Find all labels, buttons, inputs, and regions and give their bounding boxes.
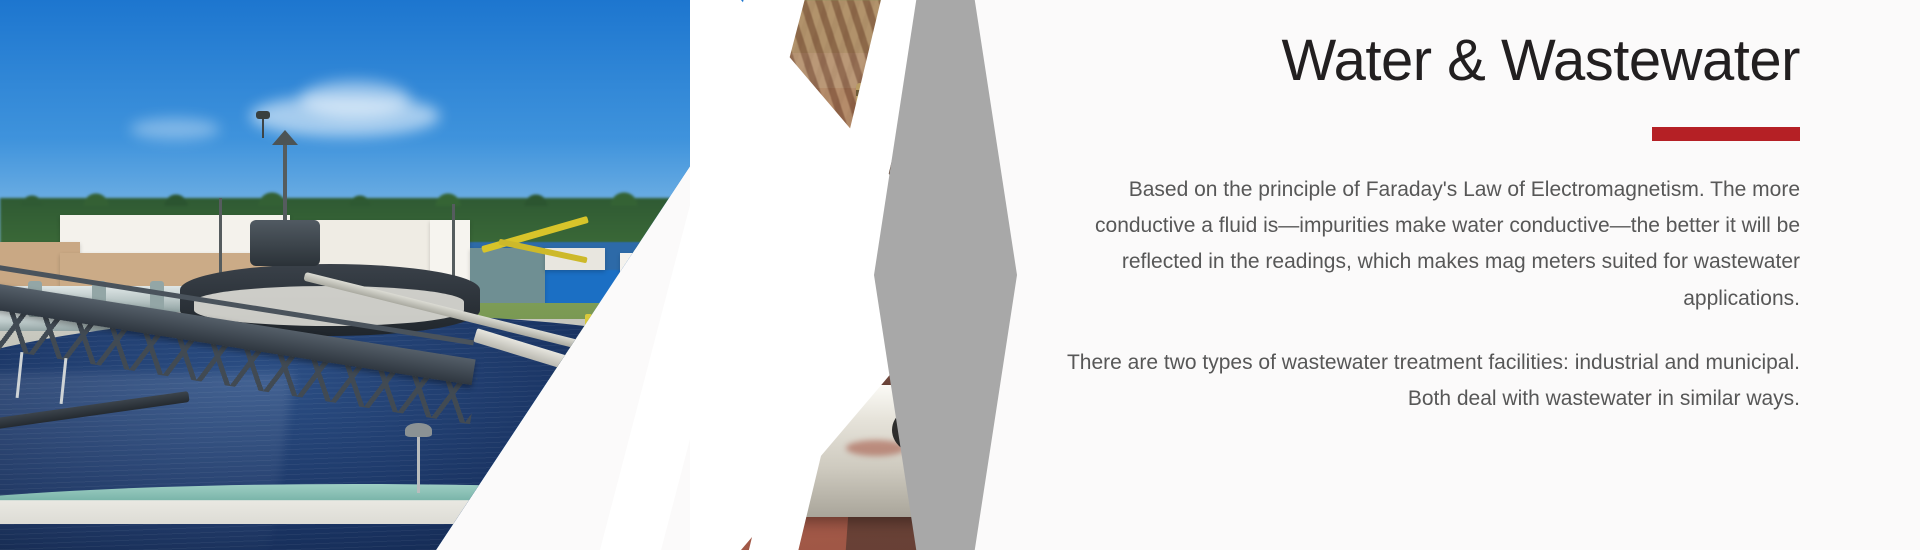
lamp-post bbox=[417, 435, 420, 493]
bollard bbox=[585, 314, 592, 336]
antenna bbox=[262, 116, 264, 138]
page-title: Water & Wastewater bbox=[1040, 28, 1800, 95]
bollard bbox=[618, 314, 625, 336]
hero-paragraph-2: There are two types of wastewater treatm… bbox=[1040, 345, 1800, 418]
basin-rim bbox=[0, 484, 800, 524]
hero-banner: Water & Wastewater Based on the principl… bbox=[0, 0, 1920, 550]
cloud bbox=[130, 118, 220, 140]
cloud bbox=[300, 80, 410, 118]
red-accent-bar bbox=[1652, 127, 1800, 141]
hero-paragraph-1: Based on the principle of Faraday's Law … bbox=[1040, 172, 1800, 317]
hero-content: Water & Wastewater Based on the principl… bbox=[1040, 0, 1800, 550]
clarifier-drive-cap bbox=[250, 220, 320, 266]
accent-bar-wrap bbox=[1040, 95, 1800, 146]
plant-building bbox=[470, 248, 545, 309]
